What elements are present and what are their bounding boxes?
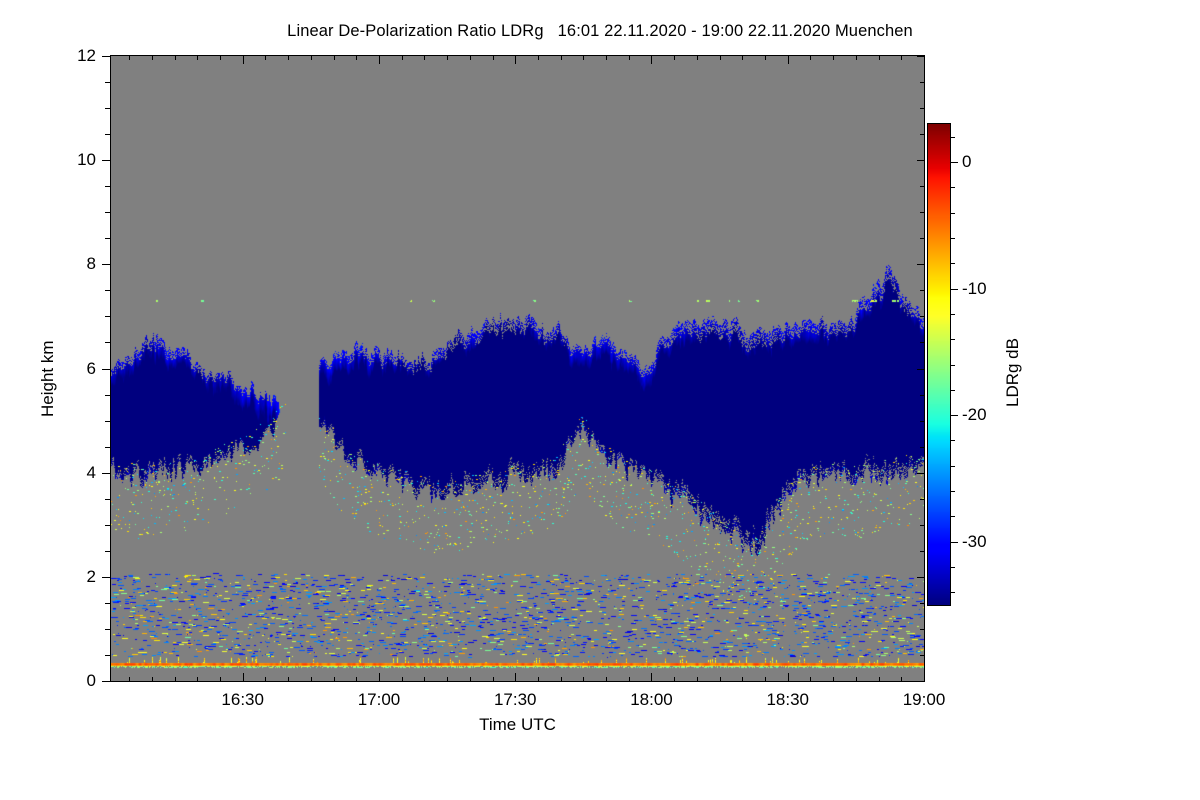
y-tick [105, 342, 110, 343]
figure-title: Linear De-Polarization Ratio LDRg 16:01 … [0, 22, 1200, 41]
y-tick [102, 681, 110, 682]
x-tick [152, 677, 153, 682]
x-tick-label: 18:00 [630, 690, 673, 710]
x-tick [720, 677, 721, 682]
y-tick [105, 525, 110, 526]
colorbar-tick [951, 365, 955, 366]
colorbar-tick [951, 339, 955, 340]
y-tick-right [920, 447, 925, 448]
y-tick [102, 577, 110, 578]
y-tick-label: 0 [0, 671, 96, 691]
y-tick [105, 655, 110, 656]
x-tick-top [720, 55, 721, 60]
ldr-heatmap-canvas [111, 56, 924, 681]
x-tick [515, 673, 516, 682]
colorbar-tick-label: -10 [962, 279, 987, 299]
x-tick [379, 673, 380, 682]
colorbar-tick [951, 516, 955, 517]
colorbar [927, 123, 951, 606]
y-tick-right [920, 290, 925, 291]
colorbar-title: LDRg dB [1003, 338, 1023, 407]
x-tick-top [651, 55, 652, 64]
y-tick [105, 316, 110, 317]
x-tick-top [810, 55, 811, 60]
x-tick [356, 677, 357, 682]
x-tick-top [470, 55, 471, 60]
y-tick-right [920, 186, 925, 187]
x-tick-top [583, 55, 584, 60]
x-tick [334, 677, 335, 682]
x-tick-top [515, 55, 516, 64]
x-tick [879, 677, 880, 682]
x-tick-top [765, 55, 766, 60]
x-tick [561, 677, 562, 682]
x-tick-top [402, 55, 403, 60]
colorbar-tick [951, 415, 958, 416]
x-tick-top [606, 55, 607, 60]
colorbar-tick [951, 542, 958, 543]
x-tick-top [742, 55, 743, 60]
plot-area [110, 55, 925, 682]
x-tick-top [379, 55, 380, 64]
y-tick-right [917, 577, 925, 578]
y-tick [105, 290, 110, 291]
colorbar-tick [951, 491, 955, 492]
y-tick [105, 212, 110, 213]
x-tick-label: 16:30 [221, 690, 264, 710]
x-tick-label: 18:30 [766, 690, 809, 710]
y-tick [105, 629, 110, 630]
x-tick [651, 673, 652, 682]
y-tick-right [920, 316, 925, 317]
y-tick-right [920, 499, 925, 500]
y-tick-right [920, 629, 925, 630]
x-tick-top [924, 55, 925, 64]
x-tick [311, 677, 312, 682]
x-tick-top [356, 55, 357, 60]
x-tick [901, 677, 902, 682]
y-tick [102, 473, 110, 474]
y-tick [105, 395, 110, 396]
y-tick-right [920, 525, 925, 526]
y-tick-right [920, 551, 925, 552]
y-tick-right [920, 212, 925, 213]
y-tick-right [920, 342, 925, 343]
x-tick [856, 677, 857, 682]
y-tick-right [917, 369, 925, 370]
y-tick-right [920, 655, 925, 656]
colorbar-tick-label: -20 [962, 405, 987, 425]
x-tick-label: 17:00 [358, 690, 401, 710]
x-tick [447, 677, 448, 682]
y-tick [105, 421, 110, 422]
x-tick [424, 677, 425, 682]
x-tick-top [493, 55, 494, 60]
x-tick-top [629, 55, 630, 60]
y-tick [105, 499, 110, 500]
y-tick [105, 447, 110, 448]
y-tick-label: 12 [0, 46, 96, 66]
x-tick [470, 677, 471, 682]
colorbar-gradient [928, 124, 950, 605]
y-tick-right [920, 82, 925, 83]
x-tick [265, 677, 266, 682]
x-tick [493, 677, 494, 682]
y-tick-label: 8 [0, 254, 96, 274]
x-tick [583, 677, 584, 682]
x-tick [629, 677, 630, 682]
x-tick-top [220, 55, 221, 60]
colorbar-tick [951, 314, 955, 315]
x-tick-top [788, 55, 789, 64]
colorbar-tick [951, 213, 955, 214]
x-tick-top [265, 55, 266, 60]
colorbar-tick [951, 238, 955, 239]
x-tick-top [197, 55, 198, 60]
x-tick-top [901, 55, 902, 60]
y-tick-right [917, 473, 925, 474]
colorbar-tick [951, 567, 955, 568]
x-tick-top [243, 55, 244, 64]
x-tick [697, 677, 698, 682]
x-tick [810, 677, 811, 682]
colorbar-tick-label: -30 [962, 532, 987, 552]
y-tick [102, 160, 110, 161]
x-tick [175, 677, 176, 682]
x-tick-top [856, 55, 857, 60]
x-tick-top [833, 55, 834, 60]
colorbar-tick [951, 592, 955, 593]
x-tick [538, 677, 539, 682]
colorbar-tick [951, 390, 955, 391]
y-tick-right [920, 238, 925, 239]
y-tick [105, 603, 110, 604]
x-tick-top [424, 55, 425, 60]
y-tick [105, 134, 110, 135]
colorbar-tick [951, 137, 955, 138]
y-tick-right [920, 421, 925, 422]
y-tick-right [920, 134, 925, 135]
x-tick [606, 677, 607, 682]
x-tick [288, 677, 289, 682]
x-tick-top [674, 55, 675, 60]
x-tick [674, 677, 675, 682]
y-tick-label: 4 [0, 463, 96, 483]
x-tick-top [152, 55, 153, 60]
colorbar-tick [951, 440, 955, 441]
x-tick-top [129, 55, 130, 60]
y-tick-right [920, 603, 925, 604]
y-tick [105, 108, 110, 109]
x-tick-top [288, 55, 289, 60]
y-tick-right [920, 108, 925, 109]
x-tick [765, 677, 766, 682]
y-tick [102, 264, 110, 265]
x-tick-label: 17:30 [494, 690, 537, 710]
x-tick-top [538, 55, 539, 60]
y-tick [105, 238, 110, 239]
colorbar-tick-label: 0 [962, 152, 971, 172]
y-tick-right [917, 264, 925, 265]
colorbar-tick [951, 187, 955, 188]
y-tick-label: 2 [0, 567, 96, 587]
y-tick [105, 186, 110, 187]
y-tick [105, 551, 110, 552]
x-tick-label: 19:00 [903, 690, 946, 710]
colorbar-tick [951, 162, 958, 163]
x-tick-top [697, 55, 698, 60]
x-tick-top [175, 55, 176, 60]
x-tick-top [334, 55, 335, 60]
x-tick [924, 673, 925, 682]
x-tick [129, 677, 130, 682]
colorbar-tick [951, 263, 955, 264]
colorbar-tick [951, 466, 955, 467]
y-tick [102, 56, 110, 57]
x-tick [402, 677, 403, 682]
x-tick-top [311, 55, 312, 60]
y-axis-title: Height km [38, 340, 58, 417]
x-tick [742, 677, 743, 682]
y-tick-right [917, 160, 925, 161]
colorbar-tick [951, 289, 958, 290]
y-tick [105, 82, 110, 83]
x-tick [788, 673, 789, 682]
x-tick-top [879, 55, 880, 60]
x-tick [220, 677, 221, 682]
x-tick [197, 677, 198, 682]
y-tick-right [920, 395, 925, 396]
radar-ldr-plot-figure: Linear De-Polarization Ratio LDRg 16:01 … [0, 0, 1200, 800]
x-tick [243, 673, 244, 682]
y-tick [102, 369, 110, 370]
y-tick-label: 10 [0, 150, 96, 170]
x-tick [833, 677, 834, 682]
x-axis-title: Time UTC [479, 715, 556, 735]
x-tick-top [447, 55, 448, 60]
x-tick-top [561, 55, 562, 60]
